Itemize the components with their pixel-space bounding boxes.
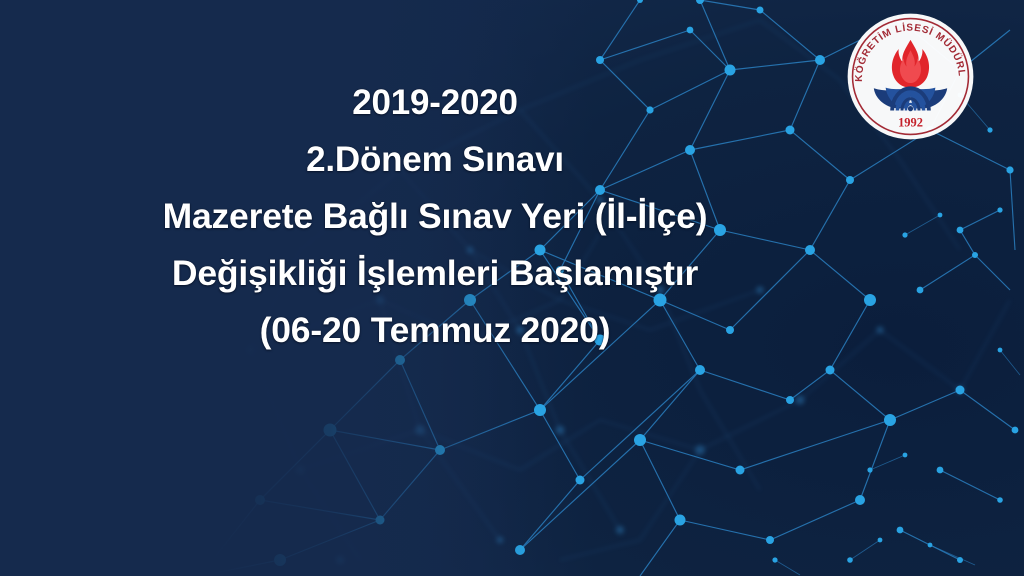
announcement-banner: 2019-2020 2.Dönem Sınavı Mazerete Bağlı … [0,0,1024,576]
headline-line-5: (06-20 Temmuz 2020) [0,302,870,359]
page-title: 2019-2020 2.Dönem Sınavı Mazerete Bağlı … [0,74,870,359]
aol-seal-logo: AÇIKÖĞRETİM LİSESİ MÜDÜRLÜĞÜ [845,11,976,142]
headline-line-1: 2019-2020 [0,74,870,131]
headline-line-2: 2.Dönem Sınavı [0,131,870,188]
headline-line-3: Mazerete Bağlı Sınav Yeri (İl-İlçe) [0,188,870,245]
seal-year: 1992 [898,115,923,129]
aol-seal-icon: AÇIKÖĞRETİM LİSESİ MÜDÜRLÜĞÜ [845,11,976,142]
headline-line-4: Değişikliği İşlemleri Başlamıştır [0,245,870,302]
fingerprint-center-dot [908,106,913,111]
